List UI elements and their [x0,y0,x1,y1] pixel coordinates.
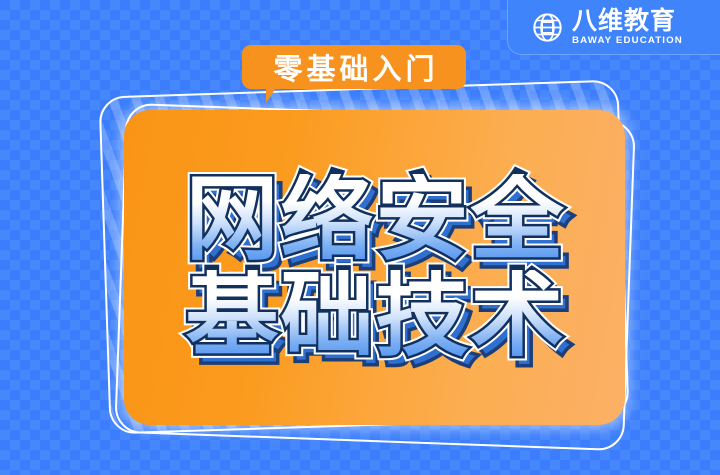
headline-line-1: 网 网 网 网 络 络 络 络 安 安 安 安 全 全 全 全 [185,174,565,265]
brand-logo-panel: 八维教育 BAWAY EDUCATION [507,0,720,55]
brand-name-en: BAWAY EDUCATION [572,36,683,46]
course-level-badge: 零基础入门 [242,45,466,89]
course-level-badge-label: 零基础入门 [269,46,438,88]
headline-char: 技 技 技 技 [376,270,469,361]
headline-line-2: 基 基 基 基 础 础 础 础 技 技 技 技 术 术 术 术 [185,270,565,361]
headline-char: 基 基 基 基 [186,270,279,361]
globe-grid-icon [532,12,563,43]
brand-logo-text: 八维教育 BAWAY EDUCATION [572,8,681,46]
headline-char: 网 网 网 网 [186,174,279,265]
badge-tail-pointer [266,88,286,103]
headline-char: 础 础 础 础 [281,270,374,361]
headline-char: 全 全 全 全 [471,174,564,265]
headline-char: 安 安 安 安 [376,174,469,265]
headline-char: 络 络 络 络 [281,174,374,265]
headline-char: 术 术 术 术 [471,270,564,361]
brand-name-cn: 八维教育 [572,8,681,33]
title-card: 网 网 网 网 络 络 络 络 安 安 安 安 全 全 全 全 基 基 基 基 [124,110,625,425]
